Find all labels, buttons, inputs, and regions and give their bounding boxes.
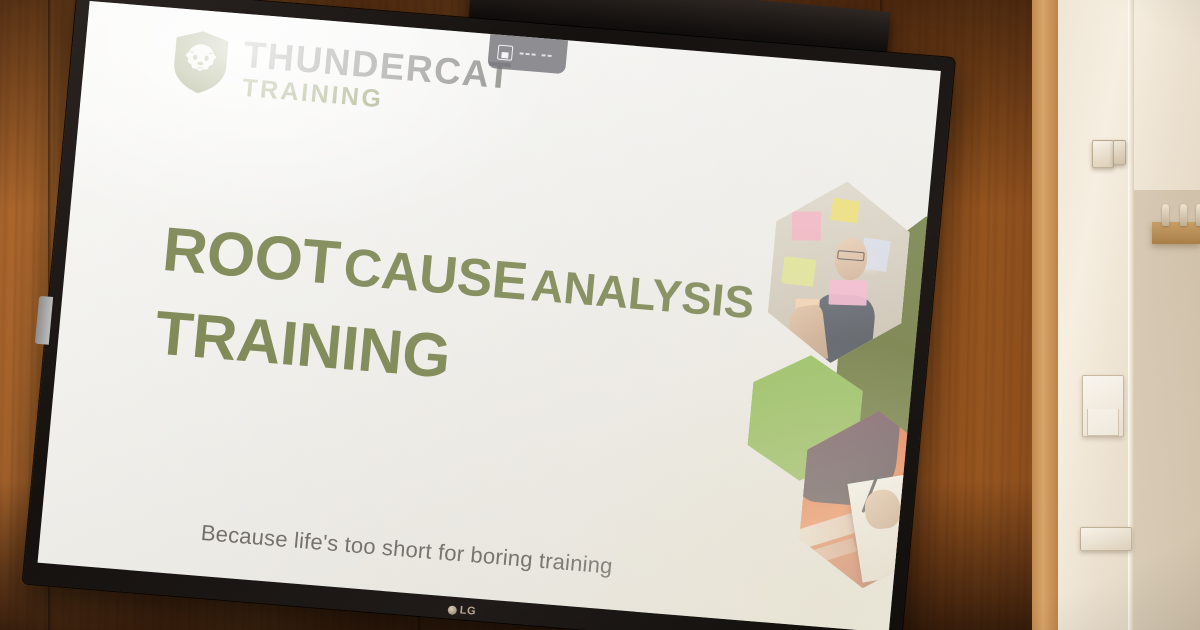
wall-cast-shadow xyxy=(1134,190,1200,630)
tv-side-button[interactable] xyxy=(35,296,53,345)
sticky-note xyxy=(828,280,867,307)
logo-wordmark: THUNDERCAT TRAINING xyxy=(239,34,514,125)
door-jamb-trim xyxy=(1032,0,1060,630)
dash-mark xyxy=(526,53,530,55)
save-screen-icon[interactable] xyxy=(497,44,513,60)
photo-person-arm xyxy=(787,304,828,363)
hexagon-graphic-cluster xyxy=(731,175,940,571)
coat-hook-rail xyxy=(1152,222,1200,244)
overlay-dash-indicators xyxy=(520,52,552,57)
light-switch-upper-second[interactable] xyxy=(1113,140,1126,165)
tv-bezel: THUNDERCAT TRAINING ROOT CAUSE ANALYSIS … xyxy=(23,0,956,630)
brand-dot-icon xyxy=(447,605,457,615)
acrylic-leaflet-holder xyxy=(1082,375,1124,437)
coat-hook-icon xyxy=(1162,204,1169,226)
dash-set xyxy=(541,54,551,57)
room-scene: THUNDERCAT TRAINING ROOT CAUSE ANALYSIS … xyxy=(0,0,1200,630)
slide-title: ROOT CAUSE ANALYSIS TRAINING xyxy=(152,218,757,415)
light-switch-lower[interactable] xyxy=(1080,527,1132,551)
photo-worker-hand xyxy=(863,488,901,530)
title-word-analysis: ANALYSIS xyxy=(529,259,756,328)
wall-mounted-television[interactable]: THUNDERCAT TRAINING ROOT CAUSE ANALYSIS … xyxy=(23,0,956,630)
screen-overlay-toolbar[interactable] xyxy=(487,34,568,74)
photo-hivis-stripe xyxy=(795,538,857,574)
title-word-root: ROOT xyxy=(160,215,343,298)
sticky-note xyxy=(792,211,822,240)
coat-hook-icon xyxy=(1180,204,1187,226)
coat-hook-icon xyxy=(1196,204,1200,226)
dash-mark xyxy=(547,55,551,57)
light-switch-upper[interactable] xyxy=(1092,140,1114,168)
title-word-cause: CAUSE xyxy=(341,238,530,312)
thundercat-logo: THUNDERCAT TRAINING xyxy=(169,28,513,124)
brand-label: LG xyxy=(459,604,476,617)
dash-mark xyxy=(520,52,524,54)
presentation-slide: THUNDERCAT TRAINING ROOT CAUSE ANALYSIS … xyxy=(38,1,941,630)
display-brand-logo: LG xyxy=(447,603,476,617)
slide-tagline: Because life's too short for boring trai… xyxy=(200,520,614,580)
sticky-note xyxy=(781,256,816,287)
dash-mark xyxy=(532,53,536,55)
tv-screen[interactable]: THUNDERCAT TRAINING ROOT CAUSE ANALYSIS … xyxy=(38,1,941,630)
lion-shield-icon xyxy=(170,28,232,96)
sticky-note xyxy=(830,198,860,223)
dash-set xyxy=(520,52,536,55)
dash-mark xyxy=(541,54,545,56)
